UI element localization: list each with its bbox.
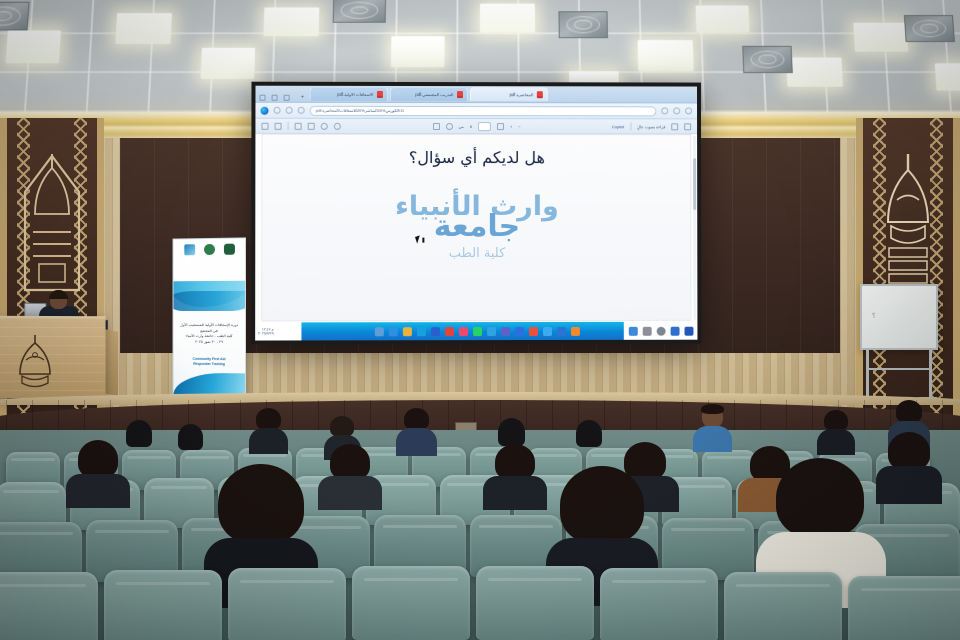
- attendee-hair: [218, 464, 304, 544]
- chrome-beta-icon[interactable]: [543, 326, 552, 335]
- attendee-torso: [318, 476, 382, 510]
- taskbar-clock[interactable]: م ١٢:٤٧ ٢٠٢٥/٧/٢٩: [258, 327, 274, 335]
- scrollbar-thumb[interactable]: [693, 158, 696, 209]
- whiteboard-crossbar: [866, 368, 932, 370]
- vertical-scrollbar[interactable]: [693, 136, 696, 319]
- university-warith-al-anbiyaa-emblem: [13, 148, 91, 298]
- attendee-hijab: [498, 418, 525, 446]
- auditorium-seat: [104, 570, 222, 640]
- auditorium-seat: [476, 566, 594, 640]
- search-icon[interactable]: [334, 122, 341, 129]
- erase-icon[interactable]: [321, 122, 328, 129]
- projected-computer-screen[interactable]: + الاسعافات الاولية.pdf التدريب المجتمعي…: [255, 86, 697, 341]
- banner-arabic-text: دورة الإسعافات الأولية للمستجيب الأول في…: [178, 323, 240, 345]
- fit-to-page-icon[interactable]: [275, 122, 282, 129]
- attendee-torso: [249, 428, 288, 454]
- logo-line-2: جامعة: [434, 213, 521, 240]
- toolbar-divider: [630, 122, 631, 130]
- pdf-slide-page: هل لديكم أي سؤال؟ وارث الأنبياء جامعة كل…: [261, 134, 691, 322]
- attendee-hair: [495, 444, 535, 480]
- ceiling-panel-light: [853, 23, 908, 52]
- browser-tab-strip[interactable]: + الاسعافات الاولية.pdf التدريب المجتمعي…: [255, 86, 697, 104]
- teams-icon[interactable]: [501, 327, 510, 336]
- projection-screen-frame: + الاسعافات الاولية.pdf التدريب المجتمعي…: [251, 82, 701, 345]
- ceiling-panel-light: [638, 40, 694, 71]
- address-bar[interactable]: D:/الكورس%20المباشر%20للاسعافات/المحاضرة…: [310, 105, 657, 116]
- rotate-icon[interactable]: [497, 123, 504, 130]
- banner-english-title: Community First Aid Responder Training: [178, 357, 240, 368]
- attendee-torso: [396, 428, 437, 456]
- print-icon[interactable]: [433, 123, 440, 130]
- maximize-icon[interactable]: [272, 95, 278, 101]
- star-icon[interactable]: [661, 107, 668, 114]
- auditorium-seat: [0, 572, 98, 640]
- ceiling-panel-light: [935, 63, 960, 90]
- university-logo: [204, 244, 215, 255]
- whiteboard-stand: [860, 348, 938, 402]
- ceiling-panel-light: [786, 57, 843, 86]
- ceiling-panel-light: [696, 6, 750, 33]
- page-separator-label: من: [459, 124, 464, 129]
- ceiling-panel-light: [263, 7, 319, 36]
- minimize-icon[interactable]: [259, 95, 265, 101]
- share-icon[interactable]: [671, 123, 678, 130]
- auditorium-seat: [228, 568, 346, 640]
- photos-icon[interactable]: [628, 326, 637, 335]
- banner-logo-row: [174, 238, 245, 255]
- page-number-input[interactable]: [478, 122, 491, 131]
- browser-navigation-bar[interactable]: D:/الكورس%20المباشر%20للاسعافات/المحاضرة…: [255, 103, 697, 120]
- page-total-label: 5: [470, 124, 472, 129]
- chrome-icon[interactable]: [529, 326, 538, 335]
- ceiling-panel-light: [391, 36, 445, 67]
- word-icon[interactable]: [430, 327, 439, 336]
- notes-icon[interactable]: [684, 326, 693, 335]
- copilot-button[interactable]: Copilot: [612, 124, 624, 129]
- widgets-icon[interactable]: [374, 327, 383, 336]
- attendee-torso: [66, 474, 130, 508]
- attendee-hair: [824, 410, 848, 431]
- attendee-hair: [888, 432, 930, 470]
- university-warith-al-anbiyaa-emblem: [869, 148, 947, 298]
- auditorium-seat: [600, 568, 718, 640]
- browser-tab-label: الاسعافات الاولية.pdf: [337, 92, 373, 97]
- pdf-file-icon: [536, 91, 542, 98]
- sidebar-toggle-icon[interactable]: [261, 122, 268, 129]
- pdf-file-icon: [376, 91, 382, 98]
- browser-tab-label: المحاضرة.pdf: [510, 92, 534, 97]
- auditorium-seat: [848, 576, 960, 640]
- zoom-out-button[interactable]: −: [518, 124, 520, 129]
- attendee-hair: [776, 458, 864, 538]
- pinterest-icon[interactable]: [459, 327, 468, 336]
- lecture-hall-photo: + الاسعافات الاولية.pdf التدريب المجتمعي…: [0, 0, 960, 640]
- mail-icon[interactable]: [642, 326, 651, 335]
- banner-wave-bottom: [173, 291, 246, 311]
- browser-tab-active[interactable]: المحاضرة.pdf: [469, 87, 547, 101]
- home-icon[interactable]: [298, 107, 305, 114]
- attendee-hair: [330, 444, 370, 480]
- auditorium-seat: [352, 566, 470, 640]
- windows-start-icon[interactable]: [388, 327, 397, 336]
- pdf-viewer-toolbar[interactable]: من 5 + − Copilot قراءة بصوت عالٍ: [255, 119, 697, 135]
- pdf-file-icon: [457, 91, 463, 98]
- slide-university-logo: وارث الأنبياء جامعة كلية الطب: [367, 173, 587, 283]
- attendee-torso: [483, 476, 547, 510]
- attendee-hijab: [178, 424, 203, 450]
- speaker-podium: [0, 316, 106, 398]
- attendee-hijab: [576, 420, 602, 447]
- file-explorer-icon[interactable]: [402, 327, 411, 336]
- ceiling-panel-light: [201, 48, 256, 79]
- highlight-icon[interactable]: [308, 122, 315, 129]
- powerpoint-icon[interactable]: [444, 327, 453, 336]
- whatsapp-icon[interactable]: [473, 327, 482, 336]
- firefox-icon[interactable]: [570, 326, 579, 335]
- attendee-hair: [78, 440, 118, 478]
- attendee-torso: [876, 466, 942, 504]
- browser-tab[interactable]: التدريب المجتمعي.pdf: [389, 87, 467, 101]
- whiteboard-leg: [929, 348, 932, 400]
- profile-icon[interactable]: [685, 107, 692, 114]
- attendee-hair: [256, 408, 281, 430]
- attendee-hair: [624, 442, 666, 480]
- attendee-hair: [330, 416, 354, 437]
- banner-arabic-title-1: دورة الإسعافات الأولية للمستجيب الأول: [178, 323, 240, 329]
- new-tab-button[interactable]: +: [298, 95, 308, 101]
- telegram-icon[interactable]: [487, 327, 496, 336]
- arrow-left-icon[interactable]: [274, 107, 281, 114]
- zoom-in-button[interactable]: +: [510, 124, 512, 129]
- air-diffuser: [0, 2, 30, 31]
- logo-faculty-label: كلية الطب: [449, 246, 506, 261]
- attendee-hair: [896, 400, 922, 423]
- taskbar-system-tray[interactable]: [624, 322, 698, 340]
- ceiling-panel-light: [480, 4, 535, 33]
- collections-icon[interactable]: [673, 107, 680, 114]
- attendee-hijab: [126, 420, 152, 447]
- clock-date: ٢٠٢٥/٧/٢٩: [258, 331, 274, 335]
- save-icon[interactable]: [446, 123, 453, 130]
- whiteboard-leg: [866, 348, 869, 400]
- taskbar-search-icon[interactable]: [656, 326, 665, 335]
- browser-tab[interactable]: الاسعافات الاولية.pdf: [309, 87, 387, 101]
- zoom-app-icon[interactable]: [515, 327, 524, 336]
- attendee-torso: [693, 426, 732, 452]
- event-rollup-banner: دورة الإسعافات الأولية للمستجيب الأول في…: [173, 237, 246, 396]
- windows-taskbar[interactable]: م ١٢:٤٧ ٢٠٢٥/٧/٢٩: [255, 322, 697, 341]
- ministry-of-health-logo: [184, 244, 195, 255]
- ceiling-panel-light: [115, 13, 172, 44]
- banner-arabic-org: كلية الطب - جامعة وارث الأنبياء: [178, 334, 240, 340]
- window-controls-left[interactable]: [259, 95, 289, 101]
- air-diffuser: [742, 46, 793, 73]
- whiteboard: ؟: [860, 284, 938, 350]
- banner-english-title-2: Responder Training: [178, 362, 240, 368]
- air-diffuser: [333, 0, 386, 23]
- attendee-hair: [404, 408, 429, 430]
- banner-arabic-date: ٢٩ - ٣٠ تموز ٢٠٢٥: [178, 340, 240, 346]
- toolbar-divider: [288, 122, 289, 130]
- draw-icon[interactable]: [295, 122, 302, 129]
- air-diffuser: [558, 11, 608, 38]
- air-diffuser: [904, 15, 955, 42]
- taskbar-clock-area[interactable]: م ١٢:٤٧ ٢٠٢٥/٧/٢٩: [255, 322, 301, 340]
- edge-icon[interactable]: [416, 327, 425, 336]
- attendee-torso: [817, 429, 855, 455]
- medical-college-logo: [223, 244, 234, 255]
- close-icon[interactable]: [284, 95, 290, 101]
- attendee-hair: [560, 466, 644, 544]
- read-aloud-button[interactable]: قراءة بصوت عالٍ: [637, 124, 665, 129]
- auditorium-seat: [724, 572, 842, 640]
- refresh-icon[interactable]: [286, 107, 293, 114]
- settings-icon[interactable]: [670, 326, 679, 335]
- edge-icon: [260, 106, 268, 114]
- attendee-hair: [701, 404, 724, 414]
- copilot-label: Copilot: [612, 124, 624, 129]
- ceiling-panel-light: [6, 30, 61, 63]
- university-warith-al-anbiyaa-emblem: [12, 332, 58, 388]
- more-options-icon[interactable]: [684, 123, 691, 130]
- whiteboard-marks: ؟: [872, 312, 876, 320]
- store-icon[interactable]: [556, 326, 565, 335]
- browser-tab-label: التدريب المجتمعي.pdf: [415, 92, 453, 97]
- slide-question-text: هل لديكم أي سؤال؟: [409, 148, 545, 167]
